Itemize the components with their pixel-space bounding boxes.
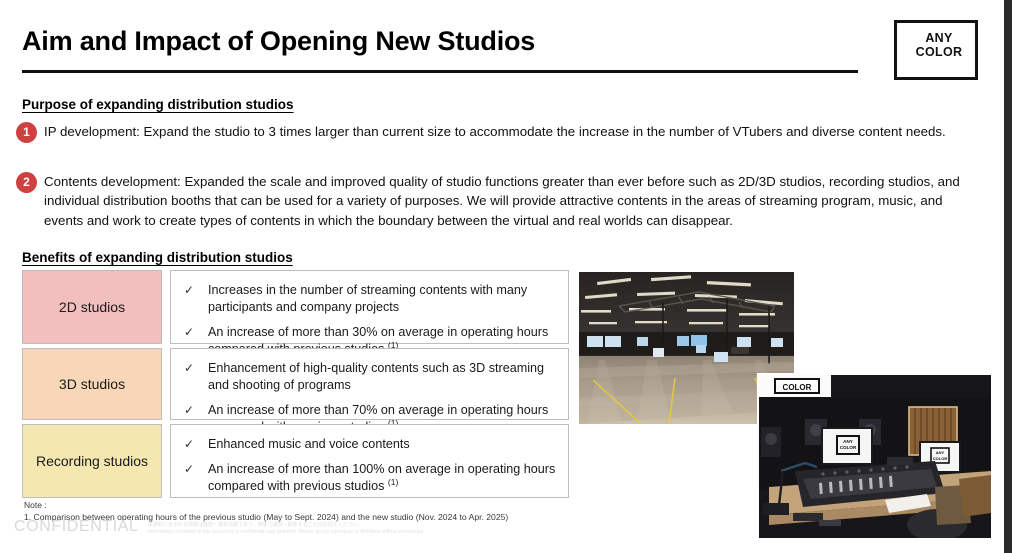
svg-text:ANY: ANY [936,450,945,455]
bullet-number-badge-1: 1 [16,122,37,143]
purpose-bullet-2: 2 Contents development: Expanded the sca… [16,172,968,230]
benefit-items-2d-studios: ✓ Increases in the number of streaming c… [170,270,569,344]
page-title: Aim and Impact of Opening New Studios [22,26,535,57]
confidential-note-en: Information contained in this document i… [148,529,425,535]
category-label: Recording studios [36,453,148,469]
purpose-bullet-1: 1 IP development: Expand the studio to 3… [16,122,968,141]
title-underline-rule [22,70,858,73]
bullet-text-1: IP development: Expand the studio to 3 t… [44,122,968,141]
benefit-category-recording-studios: Recording studios [22,424,162,498]
recording-studio-illustration: COLOR [759,375,991,538]
benefit-items-recording-studios: ✓ Enhanced music and voice contents ✓ An… [170,424,569,498]
anycolor-logo: ANY COLOR [894,20,978,80]
svg-text:COLOR: COLOR [783,383,812,392]
category-label: 2D studios [59,299,125,315]
bullet-text-2: Contents development: Expanded the scale… [44,172,968,230]
check-icon: ✓ [179,461,208,477]
benefit-item: ✓ Enhancement of high-quality contents s… [179,360,558,394]
section-heading-purpose: Purpose of expanding distribution studio… [22,97,294,112]
category-label: 3D studios [59,376,125,392]
note-label: Note : [24,500,47,510]
logo-line-2: COLOR [897,45,981,59]
svg-text:COLOR: COLOR [840,445,857,450]
footnote-marker: (1) [388,477,398,487]
benefit-item-text: Enhanced music and voice contents [208,436,558,453]
check-icon: ✓ [179,282,208,298]
logo-line-1: ANY [897,31,981,45]
svg-text:COLOR: COLOR [933,456,948,461]
bullet-number-badge-2: 2 [16,172,37,193]
benefit-item-text: An increase of more than 100% on average… [208,461,558,495]
check-icon: ✓ [179,324,208,340]
check-icon: ✓ [179,436,208,452]
check-icon: ✓ [179,402,208,418]
section-heading-benefits: Benefits of expanding distribution studi… [22,250,293,265]
benefit-item: ✓ Enhanced music and voice contents [179,436,558,453]
slide-canvas: Aim and Impact of Opening New Studios AN… [0,0,1012,553]
benefit-category-3d-studios: 3D studios [22,348,162,420]
check-icon: ✓ [179,360,208,376]
benefit-items-3d-studios: ✓ Enhancement of high-quality contents s… [170,348,569,420]
benefit-item: ✓ An increase of more than 100% on avera… [179,461,558,495]
logo-text: ANY COLOR [897,31,981,59]
window-right-border [1004,0,1012,553]
benefit-item: ✓ Increases in the number of streaming c… [179,282,558,316]
recording-studio-photo: COLOR [757,373,993,540]
benefit-category-2d-studios: 2D studios [22,270,162,344]
benefit-item-text: Increases in the number of streaming con… [208,282,558,316]
confidential-watermark: CONFIDENTIAL [14,518,139,536]
confidential-note-jp: 本資料に含まれる情報は機密・専有情報であり、無断で複製・配布することはお控えくだ… [148,521,363,528]
svg-text:ANY: ANY [843,439,853,444]
benefit-item-text: Enhancement of high-quality contents suc… [208,360,558,394]
